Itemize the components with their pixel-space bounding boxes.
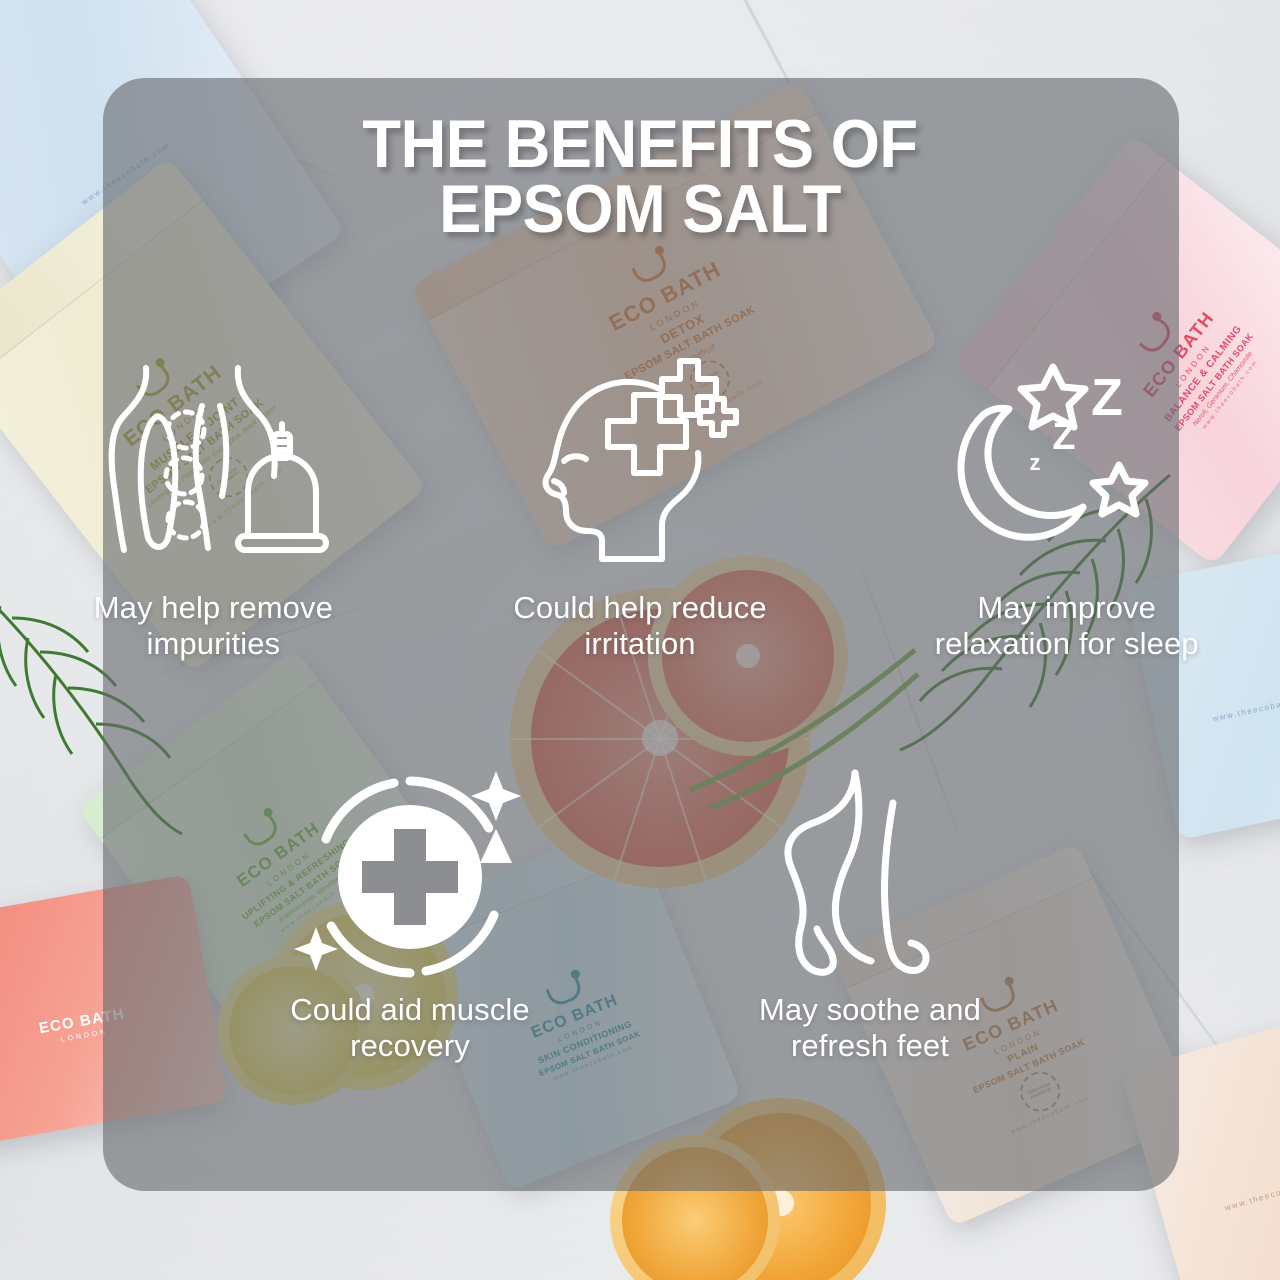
benefit-item-irritation: Could help reduceirritation	[427, 348, 854, 662]
page-title-line2: EPSOM SALT	[45, 177, 1235, 242]
benefit-caption-sleep: May improverelaxation for sleep	[935, 576, 1199, 662]
benefit-caption-feet: May soothe andrefresh feet	[759, 988, 981, 1064]
legs-feet-icon	[765, 760, 975, 988]
recovery-cycle-icon	[290, 760, 530, 988]
cupping-therapy-icon	[98, 348, 328, 576]
moon-sleep-icon: Z Z z	[947, 348, 1187, 576]
page-title: THE BENEFITS OF EPSOM SALT	[45, 112, 1235, 243]
benefit-item-recovery: Could aid musclerecovery	[195, 760, 625, 1064]
head-wellness-icon	[530, 348, 750, 576]
infographic-content: THE BENEFITS OF EPSOM SALT	[0, 0, 1280, 1280]
sleep-z-large: Z	[1091, 369, 1123, 427]
benefit-item-impurities: May help removeimpurities	[0, 348, 427, 662]
benefit-caption-irritation: Could help reduceirritation	[513, 576, 766, 662]
benefits-row-bottom: Could aid musclerecovery May soothe andr…	[0, 760, 1280, 1064]
benefit-item-sleep: Z Z z May improverelaxation for sleep	[853, 348, 1280, 662]
sleep-z-small: z	[1029, 450, 1040, 475]
benefit-caption-impurities: May help removeimpurities	[94, 576, 333, 662]
benefit-caption-recovery: Could aid musclerecovery	[290, 988, 529, 1064]
sleep-z-medium: Z	[1052, 416, 1075, 458]
benefit-item-feet: May soothe andrefresh feet	[655, 760, 1085, 1064]
benefits-row-top: May help removeimpurities	[0, 348, 1280, 662]
